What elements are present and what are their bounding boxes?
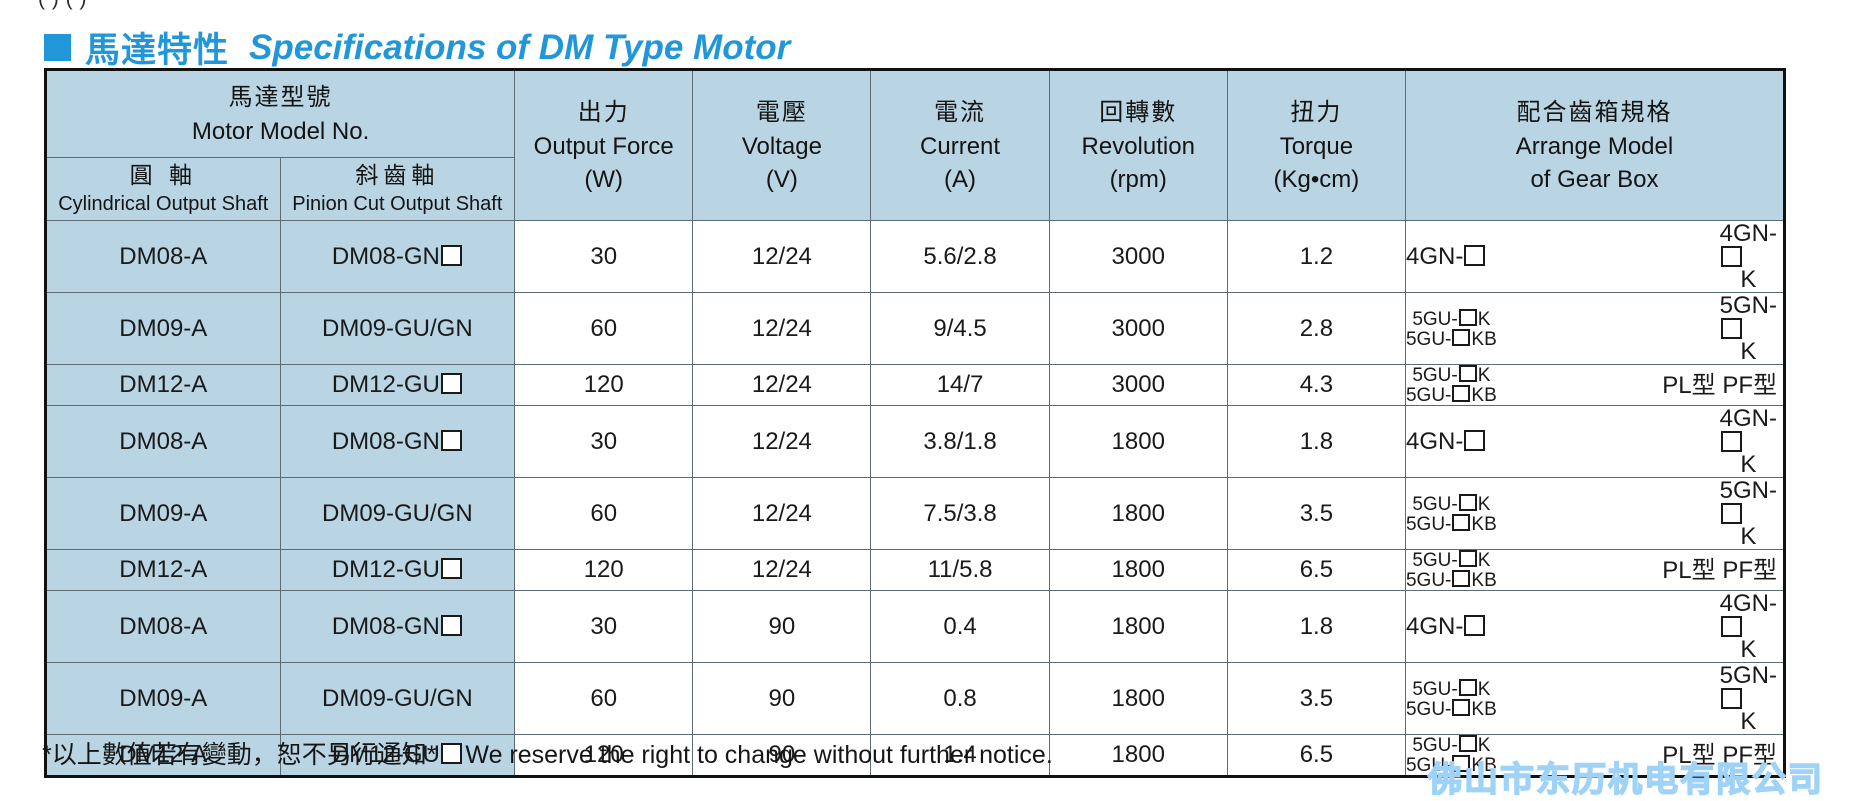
header-torque-cn: 扭力 xyxy=(1228,96,1405,130)
placeholder-square-icon xyxy=(1452,514,1470,531)
placeholder-square-icon xyxy=(441,373,462,394)
header-model-group-en: Motor Model No. xyxy=(47,115,514,148)
cell-revolution: 1800 xyxy=(1049,550,1227,591)
gearbox-model-left: 4GN- xyxy=(1406,244,1486,269)
cell-torque: 6.5 xyxy=(1227,735,1405,777)
gearbox-model-right: 4GN- K xyxy=(1720,406,1783,477)
header-shaft-cylindrical: 圓 軸 Cylindrical Output Shaft xyxy=(46,158,281,221)
cell-torque: 1.2 xyxy=(1227,221,1405,293)
table-row: DM08-ADM08-GN3012/245.6/2.830001.24GN-4G… xyxy=(46,221,1785,293)
cell-voltage: 90 xyxy=(693,591,871,663)
cell-revolution: 1800 xyxy=(1049,735,1227,777)
clipped-top-text-line: ( ) ( ) xyxy=(38,0,1864,9)
header-revolution: 回轉數 Revolution (rpm) xyxy=(1049,70,1227,221)
gearbox-model-right: 5GN- K xyxy=(1720,478,1783,549)
gearbox-model-left: 5GU-K5GU-KB xyxy=(1406,679,1497,719)
cell-output: 120 xyxy=(515,550,693,591)
cell-gearbox: 4GN-4GN- K xyxy=(1405,591,1784,663)
cell-current: 14/7 xyxy=(871,365,1049,406)
header-output-en: Output Force xyxy=(515,130,692,163)
gearbox-model-line-1: 5GU-K xyxy=(1406,550,1497,570)
cell-torque: 4.3 xyxy=(1227,365,1405,406)
cell-shaft-cylindrical: DM09-A xyxy=(46,293,281,365)
cell-shaft-cylindrical: DM12-A xyxy=(46,365,281,406)
placeholder-square-icon xyxy=(1464,615,1485,636)
cell-revolution: 3000 xyxy=(1049,365,1227,406)
header-gearbox-en-line1: Arrange Model xyxy=(1406,130,1783,163)
cell-torque: 1.8 xyxy=(1227,406,1405,478)
cell-revolution: 3000 xyxy=(1049,293,1227,365)
gearbox-model-left: 5GU-K5GU-KB xyxy=(1406,309,1497,349)
header-voltage-en: Voltage xyxy=(693,130,870,163)
cell-shaft-pinion: DM09-GU/GN xyxy=(280,663,515,735)
gearbox-model-right: 5GN- K xyxy=(1720,663,1783,734)
table-body: DM08-ADM08-GN3012/245.6/2.830001.24GN-4G… xyxy=(46,221,1785,777)
cell-gearbox: 4GN-4GN- K xyxy=(1405,221,1784,293)
cell-shaft-pinion: DM12-GU xyxy=(280,550,515,591)
cell-current: 0.4 xyxy=(871,591,1049,663)
square-bullet-icon xyxy=(44,34,71,61)
header-gearbox-cn: 配合齒箱規格 xyxy=(1406,96,1783,130)
cell-gearbox: 5GU-K5GU-KBPL型 PF型 xyxy=(1405,550,1784,591)
cell-shaft-cylindrical: DM12-A xyxy=(46,550,281,591)
header-model-group: 馬達型號 Motor Model No. xyxy=(46,70,515,158)
header-gearbox-en-line2: of Gear Box xyxy=(1406,163,1783,196)
cell-revolution: 1800 xyxy=(1049,406,1227,478)
header-voltage-unit: (V) xyxy=(693,163,870,196)
placeholder-square-icon xyxy=(1721,318,1742,339)
cell-gearbox: 5GU-K5GU-KB5GN- K xyxy=(1405,478,1784,550)
cell-voltage: 12/24 xyxy=(693,365,871,406)
placeholder-square-icon xyxy=(1721,246,1742,267)
gearbox-model-line-2: 5GU-KB xyxy=(1406,514,1497,534)
cell-shaft-cylindrical: DM08-A xyxy=(46,406,281,478)
gearbox-model-line-1: 4GN- xyxy=(1406,244,1486,269)
gearbox-model-line-2: 5GU-KB xyxy=(1406,329,1497,349)
cell-revolution: 1800 xyxy=(1049,591,1227,663)
cell-output: 30 xyxy=(515,591,693,663)
gearbox-model-line-2: 5GU-KB xyxy=(1406,385,1497,405)
gearbox-model-line-1: 4GN- xyxy=(1406,429,1486,454)
cell-current: 7.5/3.8 xyxy=(871,478,1049,550)
placeholder-square-icon xyxy=(1452,385,1470,402)
placeholder-square-icon xyxy=(1459,550,1477,567)
header-voltage-cn: 電壓 xyxy=(693,96,870,130)
cell-current: 5.6/2.8 xyxy=(871,221,1049,293)
table-row: DM09-ADM09-GU/GN60900.818003.55GU-K5GU-K… xyxy=(46,663,1785,735)
page-title: 馬達特性 Specifications of DM Type Motor xyxy=(44,22,790,73)
placeholder-square-icon xyxy=(1721,616,1742,637)
cell-torque: 3.5 xyxy=(1227,663,1405,735)
gearbox-model-line-2: 5GU-KB xyxy=(1406,570,1497,590)
cell-torque: 3.5 xyxy=(1227,478,1405,550)
placeholder-square-icon xyxy=(1459,309,1477,326)
gearbox-model-line-2: 5GU-KB xyxy=(1406,699,1497,719)
placeholder-square-icon xyxy=(441,558,462,579)
cell-shaft-pinion: DM09-GU/GN xyxy=(280,293,515,365)
cell-voltage: 12/24 xyxy=(693,221,871,293)
gearbox-model-line-1: 5GU-K xyxy=(1406,494,1497,514)
table-row: DM12-ADM12-GU12012/2414/730004.35GU-K5GU… xyxy=(46,365,1785,406)
gearbox-model-right: PL型 PF型 xyxy=(1662,373,1783,398)
header-shaft-pinion: 斜齒軸 Pinion Cut Output Shaft xyxy=(280,158,515,221)
gearbox-model-left: 5GU-K5GU-KB xyxy=(1406,365,1497,405)
cell-shaft-pinion: DM09-GU/GN xyxy=(280,478,515,550)
gearbox-model-left: 4GN- xyxy=(1406,429,1486,454)
cell-shaft-cylindrical: DM08-A xyxy=(46,221,281,293)
cell-shaft-cylindrical: DM08-A xyxy=(46,591,281,663)
header-current: 電流 Current (A) xyxy=(871,70,1049,221)
cell-voltage: 12/24 xyxy=(693,478,871,550)
table-row: DM08-ADM08-GN3012/243.8/1.818001.84GN-4G… xyxy=(46,406,1785,478)
gearbox-model-line-1: 5GU-K xyxy=(1406,365,1497,385)
cell-current: 0.8 xyxy=(871,663,1049,735)
gearbox-model-left: 5GU-K5GU-KB xyxy=(1406,550,1497,590)
header-revolution-cn: 回轉數 xyxy=(1050,96,1227,130)
gearbox-model-line-1: 4GN- xyxy=(1406,614,1486,639)
cell-current: 9/4.5 xyxy=(871,293,1049,365)
placeholder-square-icon xyxy=(441,430,462,451)
table-row: DM09-ADM09-GU/GN6012/249/4.530002.85GU-K… xyxy=(46,293,1785,365)
header-voltage: 電壓 Voltage (V) xyxy=(693,70,871,221)
page-title-english: Specifications of DM Type Motor xyxy=(249,28,790,68)
footer-disclaimer-english: We reserve the right to change without f… xyxy=(465,741,1052,769)
header-output-unit: (W) xyxy=(515,163,692,196)
placeholder-square-icon xyxy=(1464,430,1485,451)
placeholder-square-icon xyxy=(1721,688,1742,709)
table-row: DM09-ADM09-GU/GN6012/247.5/3.818003.55GU… xyxy=(46,478,1785,550)
header-current-unit: (A) xyxy=(871,163,1048,196)
cell-shaft-cylindrical: DM09-A xyxy=(46,663,281,735)
cell-gearbox: 4GN-4GN- K xyxy=(1405,406,1784,478)
placeholder-square-icon xyxy=(1459,679,1477,696)
gearbox-model-left: 5GU-K5GU-KB xyxy=(1406,494,1497,534)
header-gearbox: 配合齒箱規格 Arrange Model of Gear Box xyxy=(1405,70,1784,221)
page-title-chinese: 馬達特性 xyxy=(85,22,229,73)
cell-shaft-pinion: DM08-GN xyxy=(280,591,515,663)
gearbox-model-line-1: 5GU-K xyxy=(1406,679,1497,699)
cell-gearbox: 5GU-K5GU-KB5GN- K xyxy=(1405,293,1784,365)
gearbox-model-right: 4GN- K xyxy=(1720,221,1783,292)
cell-output: 60 xyxy=(515,478,693,550)
gearbox-model-line-1: 5GU-K xyxy=(1406,309,1497,329)
table-row: DM08-ADM08-GN30900.418001.84GN-4GN- K xyxy=(46,591,1785,663)
cell-torque: 1.8 xyxy=(1227,591,1405,663)
cell-shaft-cylindrical: DM09-A xyxy=(46,478,281,550)
cell-output: 30 xyxy=(515,221,693,293)
cell-output: 120 xyxy=(515,365,693,406)
cell-voltage: 12/24 xyxy=(693,406,871,478)
cell-voltage: 12/24 xyxy=(693,550,871,591)
placeholder-square-icon xyxy=(1452,329,1470,346)
motor-specifications-table: 馬達型號 Motor Model No. 出力 Output Force (W)… xyxy=(44,68,1786,778)
header-torque-en: Torque xyxy=(1228,130,1405,163)
cell-shaft-pinion: DM08-GN xyxy=(280,221,515,293)
gearbox-model-left: 4GN- xyxy=(1406,614,1486,639)
cell-shaft-pinion: DM08-GN xyxy=(280,406,515,478)
cell-revolution: 1800 xyxy=(1049,663,1227,735)
table-row: DM12-ADM12-GU12012/2411/5.818006.55GU-K5… xyxy=(46,550,1785,591)
cell-gearbox: 5GU-K5GU-KBPL型 PF型 xyxy=(1405,365,1784,406)
header-model-group-cn: 馬達型號 xyxy=(47,81,514,115)
placeholder-square-icon xyxy=(1721,503,1742,524)
header-output-cn: 出力 xyxy=(515,96,692,130)
placeholder-square-icon xyxy=(441,245,462,266)
company-watermark: 佛山市东历机电有限公司 xyxy=(1428,752,1824,801)
header-torque-unit: (Kg•cm) xyxy=(1228,163,1405,196)
placeholder-square-icon xyxy=(1721,431,1742,452)
placeholder-square-icon xyxy=(1459,494,1477,511)
placeholder-square-icon xyxy=(1464,245,1485,266)
footer-disclaimer: *以上數值若有變動，恕不另行通知* We reserve the right t… xyxy=(42,735,1053,771)
header-torque: 扭力 Torque (Kg•cm) xyxy=(1227,70,1405,221)
cell-revolution: 3000 xyxy=(1049,221,1227,293)
gearbox-model-right: 5GN- K xyxy=(1720,293,1783,364)
header-shaft-cylindrical-en: Cylindrical Output Shaft xyxy=(47,190,280,218)
header-current-en: Current xyxy=(871,130,1048,163)
cell-current: 11/5.8 xyxy=(871,550,1049,591)
cell-gearbox: 5GU-K5GU-KB5GN- K xyxy=(1405,663,1784,735)
header-output: 出力 Output Force (W) xyxy=(515,70,693,221)
cell-shaft-pinion: DM12-GU xyxy=(280,365,515,406)
cell-torque: 6.5 xyxy=(1227,550,1405,591)
table-header: 馬達型號 Motor Model No. 出力 Output Force (W)… xyxy=(46,70,1785,221)
cell-revolution: 1800 xyxy=(1049,478,1227,550)
header-shaft-cylindrical-cn: 圓 軸 xyxy=(47,160,280,190)
gearbox-model-right: 4GN- K xyxy=(1720,591,1783,662)
gearbox-model-right: PL型 PF型 xyxy=(1662,558,1783,583)
header-shaft-pinion-cn: 斜齒軸 xyxy=(281,160,515,190)
placeholder-square-icon xyxy=(1452,570,1470,587)
header-revolution-unit: (rpm) xyxy=(1050,163,1227,196)
cell-torque: 2.8 xyxy=(1227,293,1405,365)
header-shaft-pinion-en: Pinion Cut Output Shaft xyxy=(281,190,515,218)
cell-current: 3.8/1.8 xyxy=(871,406,1049,478)
cell-voltage: 90 xyxy=(693,663,871,735)
cell-output: 30 xyxy=(515,406,693,478)
placeholder-square-icon xyxy=(441,615,462,636)
cell-voltage: 12/24 xyxy=(693,293,871,365)
placeholder-square-icon xyxy=(1459,365,1477,382)
header-current-cn: 電流 xyxy=(871,96,1048,130)
header-revolution-en: Revolution xyxy=(1050,130,1227,163)
placeholder-square-icon xyxy=(1452,699,1470,716)
footer-disclaimer-chinese: *以上數值若有變動，恕不另行通知* xyxy=(42,741,436,769)
cell-output: 60 xyxy=(515,293,693,365)
cell-output: 60 xyxy=(515,663,693,735)
placeholder-square-icon xyxy=(1459,735,1477,752)
clipped-top-text: ( ) ( ) xyxy=(0,0,1864,14)
